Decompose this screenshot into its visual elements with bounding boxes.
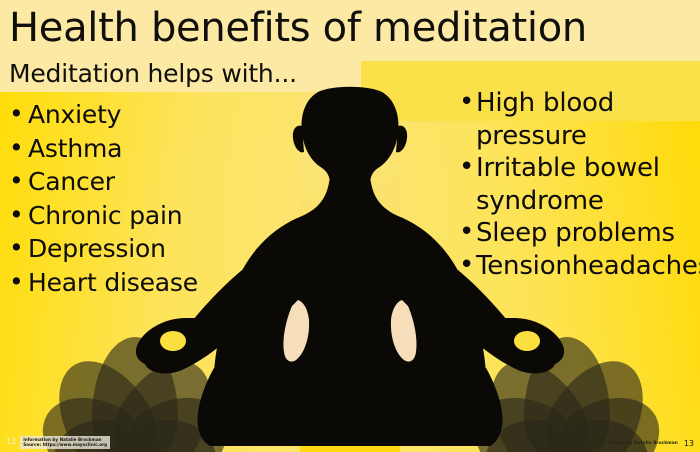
list-item: Irritable bowel syndrome: [458, 152, 700, 217]
page-number-right: 13: [684, 440, 694, 448]
page-subtitle: Meditation helps with...: [9, 58, 297, 90]
list-item: Chronic pain: [8, 199, 198, 233]
list-item: Sleep problems: [458, 217, 700, 250]
credit-box: Information by Natalie Brockman Source: …: [20, 436, 110, 449]
list-item: Anxiety: [8, 98, 198, 132]
footer-credit-left: 12 Information by Natalie Brockman Sourc…: [6, 436, 110, 449]
list-item: Cancer: [8, 165, 198, 199]
list-item: Depression: [8, 232, 198, 266]
list-item: Heart disease: [8, 266, 198, 300]
benefits-list-left: Anxiety Asthma Cancer Chronic pain Depre…: [8, 98, 198, 299]
credit-source-line: Source: https://www.mayoclinic.org: [23, 442, 107, 448]
benefits-list-right: High blood pressure Irritable bowel synd…: [458, 87, 700, 282]
page-number-left: 12: [6, 438, 16, 446]
design-credit-line: Design by Natalie Brockman: [608, 441, 678, 447]
footer-credit-right: Design by Natalie Brockman 13: [608, 440, 694, 448]
list-item: Asthma: [8, 132, 198, 166]
page-title: Health benefits of meditation: [9, 4, 587, 52]
list-item: High blood pressure: [458, 87, 700, 152]
slide-canvas: Health benefits of meditation Meditation…: [0, 0, 700, 452]
list-item: Tensionheadaches: [458, 250, 700, 283]
